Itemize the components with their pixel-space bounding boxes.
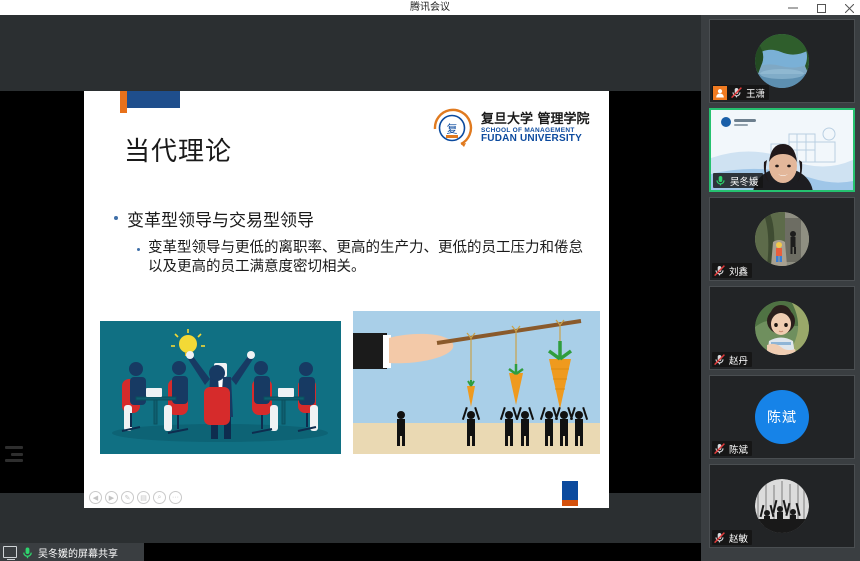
participant-tile-liuxin[interactable]: 刘鑫 [709, 197, 855, 281]
mic-muted-icon [713, 353, 726, 366]
participants-panel[interactable]: 王潇 [701, 15, 860, 561]
stage-left-strip [0, 91, 84, 493]
slide-bullet-level2: 变革型领导与更低的离职率、更高的生产力、更低的员工压力和倦怠以及更高的员工满意度… [137, 239, 597, 277]
slide-bullet-level1-text: 变革型领导与交易型领导 [127, 206, 314, 231]
mic-muted-icon [713, 531, 726, 544]
window-title: 腾讯会议 [0, 0, 860, 15]
svg-text:复: 复 [447, 122, 458, 136]
tencent-meeting-window: 腾讯会议 当代理论 [0, 0, 860, 561]
avatar [755, 301, 809, 355]
bullet-dot-icon [114, 216, 118, 220]
mic-muted-icon [713, 264, 726, 277]
participant-tile-zhaodan[interactable]: 赵丹 [709, 286, 855, 370]
participant-name: 陈斌 [729, 442, 748, 456]
mic-muted-icon [713, 442, 726, 455]
participant-name: 吴冬媛 [730, 174, 759, 188]
avatar [755, 212, 809, 266]
slides-overview-button[interactable]: ▤ [137, 491, 150, 504]
shared-screen-stage[interactable]: 当代理论 复 复旦大学 管理学院 SCHOOL OF MANAGEMENT [0, 15, 701, 543]
screen-share-icon [3, 546, 17, 558]
participant-tile-wangxiao[interactable]: 王潇 [709, 19, 855, 103]
zoom-button[interactable]: ⌕ [153, 491, 166, 504]
avatar: 陈斌 [755, 390, 809, 444]
presentation-slide[interactable]: 当代理论 复 复旦大学 管理学院 SCHOOL OF MANAGEMENT [84, 91, 609, 508]
maximize-button[interactable] [814, 1, 828, 15]
participant-label: 陈斌 [712, 441, 752, 456]
stage-top-letterbox [0, 15, 701, 91]
slide-title: 当代理论 [124, 131, 232, 168]
slide-accent-orange-bar [120, 91, 127, 113]
slide-corner-mark [562, 481, 578, 506]
participant-label: 赵敏 [712, 530, 752, 545]
fudan-logo-en-line2: FUDAN UNIVERSITY [481, 134, 590, 145]
close-button[interactable] [842, 1, 856, 15]
mic-muted-icon [730, 86, 743, 99]
slide-bullet-level1: 变革型领导与交易型领导 [114, 206, 314, 231]
slide-bullet-level2-text: 变革型领导与更低的离职率、更高的生产力、更低的员工压力和倦怠以及更高的员工满意度… [148, 239, 597, 277]
host-badge-icon [713, 86, 727, 100]
fudan-seal-icon: 复 [431, 107, 475, 151]
prev-slide-button[interactable]: ◀ [89, 491, 102, 504]
participant-list-icon[interactable] [5, 446, 23, 462]
minimize-button[interactable] [786, 1, 800, 15]
participant-tile-zhaomin[interactable]: 赵敏 [709, 464, 855, 548]
slideshow-controls[interactable]: ◀ ▶ ✎ ▤ ⌕ ··· [89, 491, 182, 504]
fudan-som-logo: 复 复旦大学 管理学院 SCHOOL OF MANAGEMENT FUDAN U… [431, 106, 597, 152]
carrot-stick-illustration [353, 311, 600, 454]
avatar [755, 479, 809, 533]
participant-name: 王潇 [746, 86, 765, 100]
participant-label: 刘鑫 [712, 263, 752, 278]
pen-button[interactable]: ✎ [121, 491, 134, 504]
slide-accent-blue-bar [127, 91, 180, 108]
participant-tile-wudongyuan[interactable]: 吴冬媛 [709, 108, 855, 192]
participant-label: 吴冬媛 [713, 173, 763, 188]
screen-share-label: 吴冬媛的屏幕共享 [38, 545, 118, 560]
screen-share-status-bar[interactable]: 吴冬媛的屏幕共享 [0, 543, 144, 561]
participant-tile-chenbin[interactable]: 陈斌 陈斌 [709, 375, 855, 459]
fudan-logo-cn: 复旦大学 管理学院 [481, 113, 590, 127]
title-bar: 腾讯会议 [0, 0, 860, 15]
team-leader-illustration [100, 321, 341, 454]
next-slide-button[interactable]: ▶ [105, 491, 118, 504]
mic-unmuted-icon[interactable] [21, 546, 34, 559]
bullet-dot-icon [137, 248, 140, 251]
participant-name: 赵敏 [729, 531, 748, 545]
participant-label: 赵丹 [712, 352, 752, 367]
mic-unmuted-icon [714, 174, 727, 187]
participant-name: 刘鑫 [729, 264, 748, 278]
window-controls [786, 0, 856, 15]
avatar-initials: 陈斌 [755, 390, 809, 444]
participant-label: 王潇 [712, 85, 769, 100]
avatar [755, 34, 809, 88]
fudan-logo-text: 复旦大学 管理学院 SCHOOL OF MANAGEMENT FUDAN UNI… [481, 113, 590, 145]
participant-name: 赵丹 [729, 353, 748, 367]
more-options-button[interactable]: ··· [169, 491, 182, 504]
